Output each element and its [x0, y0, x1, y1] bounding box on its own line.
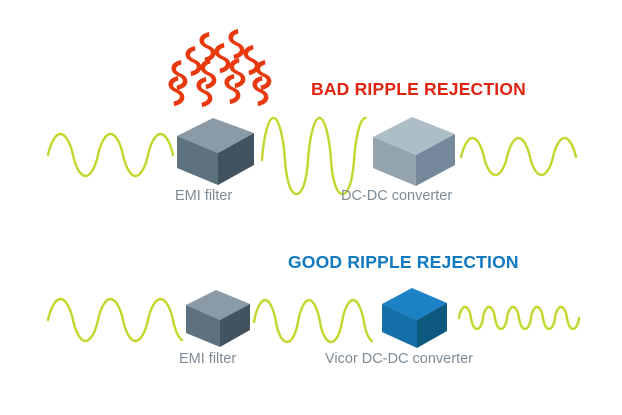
- good-input-wave: [48, 299, 182, 341]
- vicor-dcdc-converter-label: Vicor DC-DC converter: [325, 351, 473, 367]
- vicor-dcdc-converter-cube: [382, 288, 447, 348]
- bad-input-wave: [48, 134, 173, 176]
- good-ripple-rejection-heading: GOOD RIPPLE REJECTION: [288, 252, 519, 273]
- heat-squiggles-icon: [168, 29, 273, 108]
- good-middle-wave: [254, 300, 372, 342]
- bad-middle-wave: [262, 118, 366, 194]
- diagram-canvas: BAD RIPPLE REJECTION GOOD RIPPLE REJECTI…: [0, 0, 622, 415]
- diagram-graphics: [0, 0, 622, 415]
- bad-output-wave: [461, 138, 576, 175]
- bad-ripple-rejection-heading: BAD RIPPLE REJECTION: [311, 79, 526, 100]
- emi-filter-bottom-label: EMI filter: [179, 351, 236, 367]
- good-output-wave: [459, 307, 579, 329]
- emi-filter-top-cube: [177, 118, 254, 185]
- dcdc-converter-top-cube: [373, 117, 455, 186]
- emi-filter-top-label: EMI filter: [175, 188, 232, 204]
- emi-filter-bottom-cube: [186, 290, 250, 347]
- dcdc-converter-top-label: DC-DC converter: [341, 188, 452, 204]
